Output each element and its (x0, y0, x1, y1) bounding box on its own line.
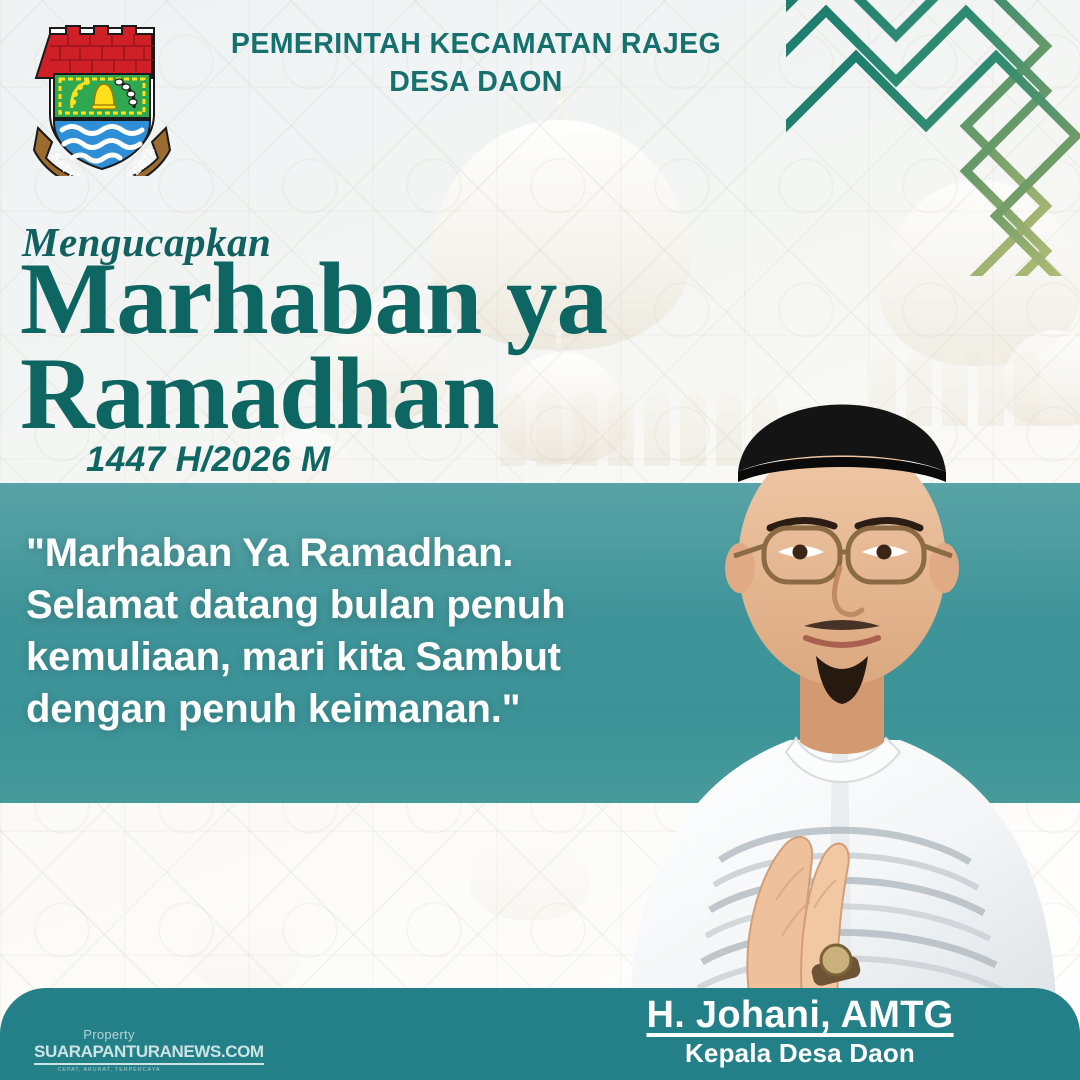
official-name: H. Johani, AMTG (560, 994, 1040, 1037)
organization-header: PEMERINTAH KECAMATAN RAJEG DESA DAON (176, 26, 776, 101)
header-line-1: PEMERINTAH KECAMATAN RAJEG (176, 26, 776, 64)
watermark: Property SUARAPANTURANEWS.COM CEPAT, AKU… (34, 1028, 184, 1073)
headline-line-2: Ramadhan (20, 347, 700, 442)
quote-line-4: dengan penuh keimanan." (26, 683, 646, 735)
hijri-year: 1447 H/2026 M (86, 440, 331, 480)
watermark-domain: SUARAPANTURANEWS.COM (34, 1041, 264, 1065)
chevron-ornament (786, 0, 1080, 276)
quote-line-1: "Marhaban Ya Ramadhan. (26, 527, 646, 579)
header-line-2: DESA DAON (176, 64, 776, 102)
quote-line-3: kemuliaan, mari kita Sambut (26, 631, 646, 683)
official-portrait (600, 300, 1070, 1000)
watermark-property-label: Property (34, 1028, 184, 1041)
main-headline: Marhaban ya Ramadhan (20, 252, 700, 442)
coat-of-arms-logo-icon: SATYA KARYA KERTA RAHARJA (28, 16, 176, 176)
ramadan-greeting-poster: SATYA KARYA KERTA RAHARJA PEMERINTAH KEC… (0, 0, 1080, 1080)
quote-text: "Marhaban Ya Ramadhan. Selamat datang bu… (26, 527, 646, 735)
watermark-tagline: CEPAT, AKURAT, TERPERCAYA (34, 1067, 184, 1073)
headline-line-1: Marhaban ya (20, 252, 700, 347)
official-role: Kepala Desa Daon (560, 1038, 1040, 1069)
quote-line-2: Selamat datang bulan penuh (26, 579, 646, 631)
